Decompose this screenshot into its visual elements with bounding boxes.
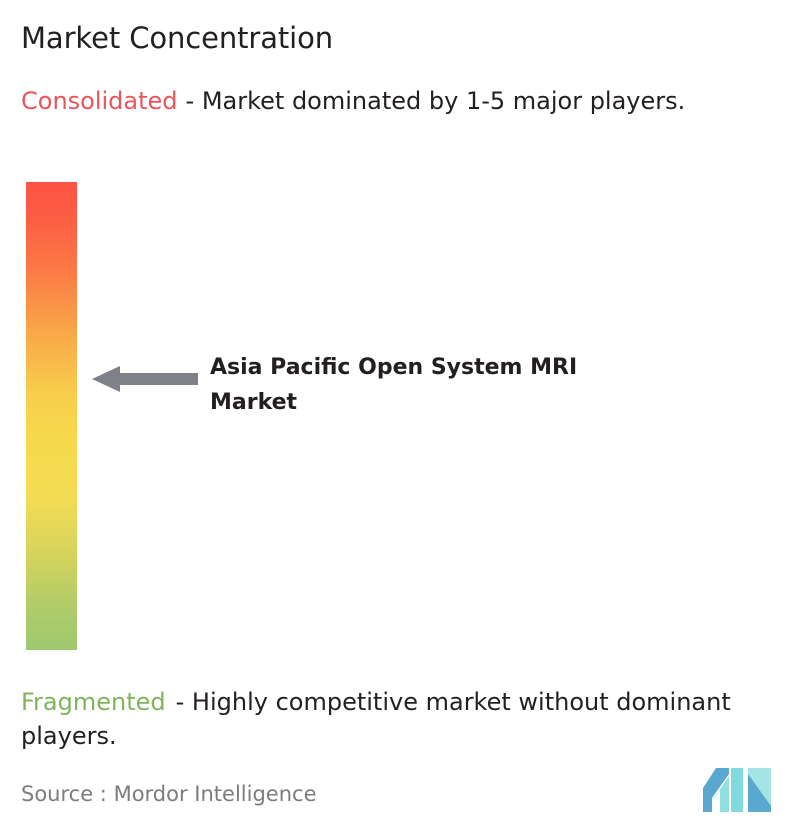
- source-label: Source :: [21, 782, 107, 806]
- legend-consolidated: Consolidated- Market dominated by 1-5 ma…: [21, 84, 765, 118]
- legend-fragmented: Fragmented- Highly competitive market wi…: [21, 685, 789, 753]
- page-title: Market Concentration: [21, 20, 333, 56]
- legend-fragmented-keyword: Fragmented: [21, 688, 166, 716]
- concentration-gradient-scale: [26, 182, 77, 650]
- market-callout-label: Asia Pacific Open System MRI Market: [210, 350, 640, 420]
- mordor-intelligence-logo: [703, 768, 771, 812]
- legend-consolidated-keyword: Consolidated: [21, 87, 178, 115]
- source-name: Mordor Intelligence: [114, 782, 317, 806]
- legend-consolidated-description: - Market dominated by 1-5 major players.: [186, 87, 686, 115]
- source-attribution: Source : Mordor Intelligence: [21, 780, 316, 808]
- left-arrow-icon: [92, 366, 198, 392]
